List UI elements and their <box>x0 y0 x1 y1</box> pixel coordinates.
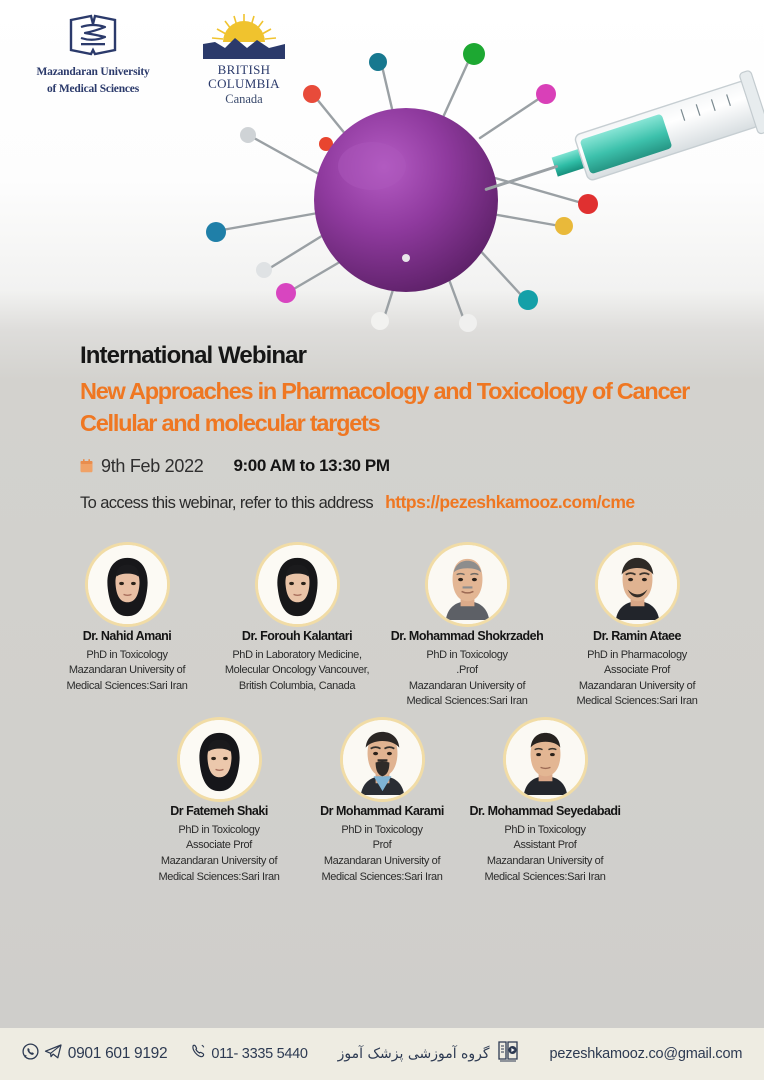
speaker-name: Dr. Mohammad Seyedabadi <box>464 804 627 820</box>
speaker-card: Dr. Forouh Kalantari PhD in Laboratory M… <box>212 545 382 710</box>
speaker-name: Dr. Ramin Ataee <box>552 629 722 645</box>
bc-logo-line2: COLUMBIA <box>196 77 292 91</box>
eyebrow-title: International Webinar <box>80 342 720 370</box>
book-logo-icon <box>67 12 119 60</box>
speaker-detail: Medical Sciences:Sari Iran <box>301 870 464 886</box>
mobile-number: 0901 601 9192 <box>68 1045 168 1063</box>
speaker-detail: PhD in Toxicology <box>382 648 552 664</box>
speaker-name: Dr Mohammad Karami <box>301 804 464 820</box>
landline-number: 011- 3335 5440 <box>211 1046 307 1062</box>
british-columbia-logo: BRITISH COLUMBIA Canada <box>196 12 292 107</box>
mazandaran-logo-line1: Mazandaran University <box>18 64 168 81</box>
speaker-detail: Medical Sciences:Sari Iran <box>42 679 212 695</box>
speaker-detail: Medical Sciences:Sari Iran <box>138 870 301 886</box>
speaker-name: Dr. Forouh Kalantari <box>212 629 382 645</box>
organization-brand: گروه آموزشی پزشک آموز <box>338 1039 528 1069</box>
speaker-detail: Mazandaran University of <box>552 679 722 695</box>
speaker-name: Dr Fatemeh Shaki <box>138 804 301 820</box>
email-contact[interactable]: pezeshkamooz.co@gmail.com <box>550 1046 743 1062</box>
speaker-detail: Mazandaran University of <box>301 854 464 870</box>
speaker-detail: PhD in Toxicology <box>301 823 464 839</box>
speaker-card: Dr Mohammad Karami PhD in Toxicology Pro… <box>301 720 464 885</box>
speaker-photo-ramin-ataee <box>598 545 677 624</box>
email-address: pezeshkamooz.co@gmail.com <box>550 1046 743 1062</box>
mazandaran-logo-line2: of Medical Sciences <box>18 81 168 98</box>
speaker-detail: PhD in Toxicology <box>464 823 627 839</box>
main-title-line1: New Approaches in Pharmacology and Toxic… <box>80 376 720 408</box>
speakers-section: Dr. Nahid Amani PhD in Toxicology Mazand… <box>0 545 764 885</box>
bc-logo-line3: Canada <box>196 92 292 107</box>
speaker-detail: Mazandaran University of <box>464 854 627 870</box>
speaker-detail: British Columbia, Canada <box>212 679 382 695</box>
schedule-row: 9th Feb 2022 9:00 AM to 13:30 PM <box>80 456 720 477</box>
speaker-card: Dr. Mohammad Shokrzadeh PhD in Toxicolog… <box>382 545 552 710</box>
speaker-photo-mohammad-karami <box>343 720 422 799</box>
landline-contact[interactable]: 011- 3335 5440 <box>189 1043 307 1065</box>
speaker-photo-mohammad-shokrzadeh <box>428 545 507 624</box>
speaker-row-2: Dr Fatemeh Shaki PhD in Toxicology Assoc… <box>0 720 764 885</box>
sun-mountain-logo-icon <box>201 12 287 62</box>
mobile-contact[interactable]: 0901 601 9192 <box>22 1043 168 1065</box>
speaker-detail: .Prof <box>382 663 552 679</box>
main-title-line2: Cellular and molecular targets <box>80 408 720 440</box>
speaker-card: Dr. Nahid Amani PhD in Toxicology Mazand… <box>42 545 212 710</box>
speaker-card: Dr. Ramin Ataee PhD in Pharmacology Asso… <box>552 545 722 710</box>
phone-icon <box>189 1043 206 1065</box>
logo-group: Mazandaran University of Medical Science… <box>18 12 292 107</box>
speaker-detail: Medical Sciences:Sari Iran <box>552 694 722 710</box>
speaker-detail: Associate Prof <box>552 663 722 679</box>
bc-logo-line1: BRITISH <box>196 63 292 77</box>
access-row: To access this webinar, refer to this ad… <box>80 492 720 513</box>
webinar-url[interactable]: https://pezeshkamooz.com/cme <box>385 492 635 513</box>
header-text-block: International Webinar New Approaches in … <box>80 342 720 513</box>
speaker-name: Dr. Nahid Amani <box>42 629 212 645</box>
speaker-detail: Prof <box>301 838 464 854</box>
speaker-detail: Molecular Oncology Vancouver, <box>212 663 382 679</box>
speaker-detail: Mazandaran University of <box>382 679 552 695</box>
hero-section: Mazandaran University of Medical Science… <box>0 0 764 340</box>
telegram-icon <box>44 1043 63 1065</box>
whatsapp-icon <box>22 1043 39 1065</box>
speaker-card: Dr. Mohammad Seyedabadi PhD in Toxicolog… <box>464 720 627 885</box>
speaker-name: Dr. Mohammad Shokrzadeh <box>382 629 552 645</box>
speaker-photo-nahid-amani <box>88 545 167 624</box>
pezeshkamooz-logo-icon <box>497 1039 519 1069</box>
speaker-detail: Mazandaran University of <box>42 663 212 679</box>
speaker-detail: Medical Sciences:Sari Iran <box>382 694 552 710</box>
speaker-detail: PhD in Pharmacology <box>552 648 722 664</box>
speaker-detail: PhD in Toxicology <box>138 823 301 839</box>
speaker-row-1: Dr. Nahid Amani PhD in Toxicology Mazand… <box>0 545 764 710</box>
contact-footer: 0901 601 9192 011- 3335 5440 گروه آموزشی… <box>0 1028 764 1080</box>
speaker-detail: Mazandaran University of <box>138 854 301 870</box>
speaker-detail: Medical Sciences:Sari Iran <box>464 870 627 886</box>
webinar-date: 9th Feb 2022 <box>101 456 203 477</box>
webinar-poster: Mazandaran University of Medical Science… <box>0 0 764 1080</box>
organization-name-persian: گروه آموزشی پزشک آموز <box>338 1046 490 1062</box>
speaker-photo-mohammad-seyedabadi <box>506 720 585 799</box>
speaker-detail: PhD in Toxicology <box>42 648 212 664</box>
calendar-icon <box>80 459 93 473</box>
speaker-detail: PhD in Laboratory Medicine, <box>212 648 382 664</box>
speaker-photo-fatemeh-shaki <box>180 720 259 799</box>
speaker-photo-forouh-kalantari <box>258 545 337 624</box>
webinar-time: 9:00 AM to 13:30 PM <box>233 456 389 476</box>
speaker-detail: Associate Prof <box>138 838 301 854</box>
mazandaran-university-logo: Mazandaran University of Medical Science… <box>18 12 168 97</box>
speaker-card: Dr Fatemeh Shaki PhD in Toxicology Assoc… <box>138 720 301 885</box>
speaker-detail: Assistant Prof <box>464 838 627 854</box>
access-label: To access this webinar, refer to this ad… <box>80 494 373 513</box>
